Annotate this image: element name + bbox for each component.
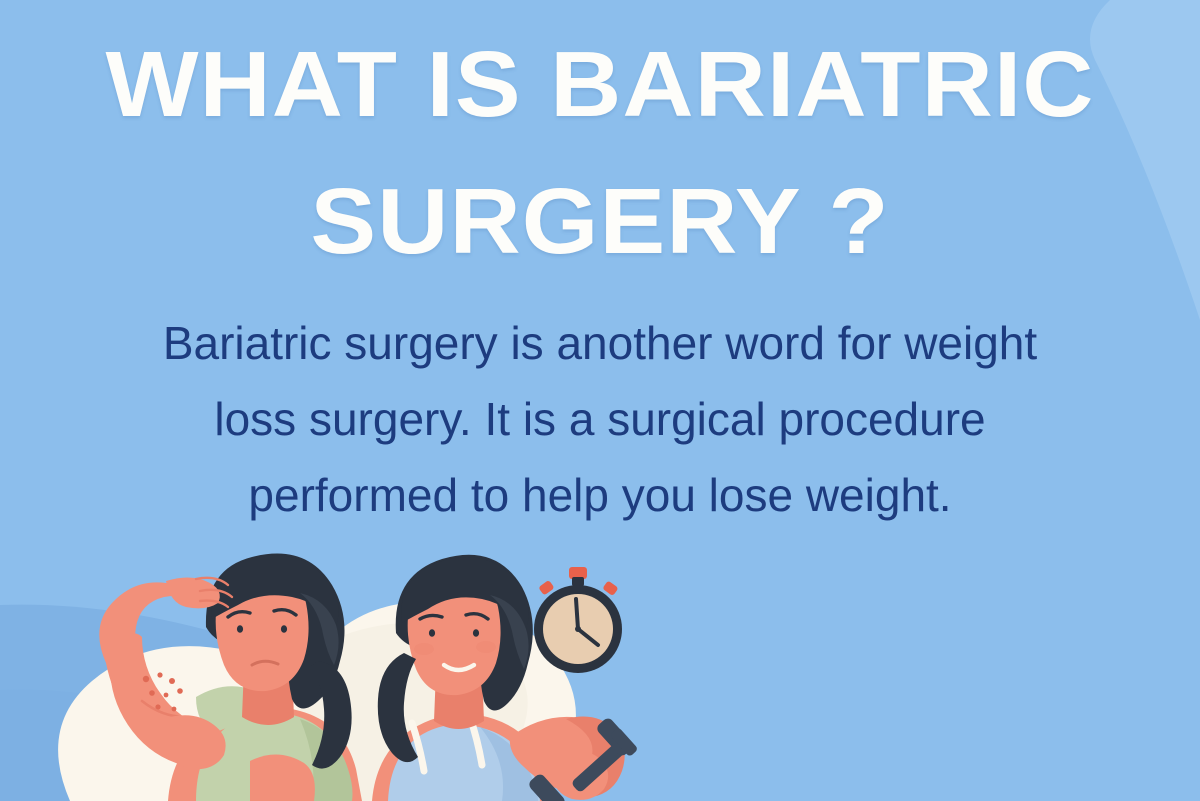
- body-line-1: Bariatric surgery is another word for we…: [44, 305, 1156, 381]
- page-title: WHAT IS BARIATRIC SURGERY ?: [0, 38, 1200, 268]
- body-line-3: performed to help you lose weight.: [44, 457, 1156, 533]
- right-woman-blush-left: [414, 643, 434, 655]
- poster-canvas: WHAT IS BARIATRIC SURGERY ? Bariatric su…: [0, 0, 1200, 801]
- right-woman-eye-right: [473, 629, 479, 637]
- title-line-2: SURGERY ?: [0, 175, 1200, 268]
- stopwatch-hand-minute: [576, 599, 578, 629]
- body-paragraph: Bariatric surgery is another word for we…: [44, 305, 1156, 533]
- stopwatch-center-pin: [575, 626, 581, 632]
- illustration-two-women: [0, 541, 1200, 801]
- stopwatch-icon: [534, 567, 622, 673]
- body-line-2: loss surgery. It is a surgical procedure: [44, 381, 1156, 457]
- right-woman-blush-right: [476, 641, 496, 653]
- left-woman-eye-left: [237, 625, 243, 633]
- left-woman-eye-right: [281, 625, 287, 633]
- right-woman-eye-left: [429, 629, 435, 637]
- title-line-1: WHAT IS BARIATRIC: [0, 38, 1200, 131]
